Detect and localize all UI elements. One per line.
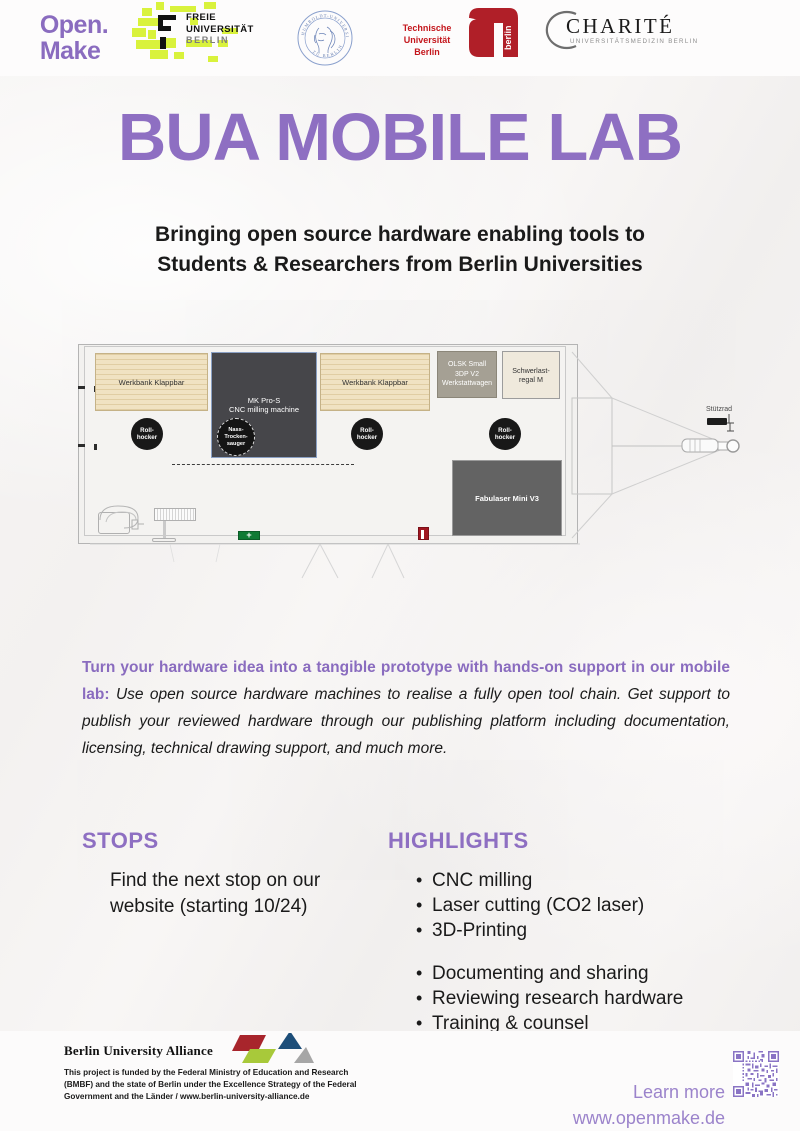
stool-1-label-line1: Roll- <box>137 427 157 435</box>
list-spacer <box>388 943 768 961</box>
tu-line1: Technische <box>390 22 464 34</box>
learn-more-block: Learn more www.openmake.de <box>500 1079 725 1131</box>
heavy-duty-shelf: Schwerlast- regal M <box>502 351 560 399</box>
workbench-right-label: Werkbank Klappbar <box>342 378 408 387</box>
stops-section: STOPS Find the next stop on our website … <box>82 828 382 920</box>
cart-label-line2: 3DP V2 <box>442 370 492 380</box>
page-subtitle-line2: Students & Researchers from Berlin Unive… <box>0 250 800 280</box>
vacuum-label-line1: Nass- <box>224 427 247 434</box>
floor-guide-line <box>172 464 354 465</box>
jockey-wheel-body <box>707 418 727 425</box>
highlights-section: HIGHLIGHTS CNC milling Laser cutting (CO… <box>388 828 768 1036</box>
openmake-logo-line2: Make <box>40 38 108 64</box>
highlights-heading: HIGHLIGHTS <box>388 828 768 854</box>
stops-text: Find the next stop on our website (start… <box>110 868 382 920</box>
learn-more-label: Learn more <box>500 1079 725 1105</box>
tu-berlin-wordmark: Technische Universität Berlin <box>390 22 464 58</box>
list-item: 3D-Printing <box>416 918 768 943</box>
workbench-left-label: Werkbank Klappbar <box>119 378 185 387</box>
tu-berlin-mark-label: berlin <box>503 25 513 50</box>
charite-logo: CHARITÉ UNIVERSITÄTSMEDIZIN BERLIN <box>530 0 700 76</box>
laser-label: Fabulaser Mini V3 <box>475 494 539 503</box>
humboldt-logo: HUMBOLDT-UNIVERSITÄT ZU BERLIN <box>270 0 380 76</box>
shelf-label-line1: Schwerlast- <box>512 366 550 376</box>
openmake-logo-line1: Open. <box>40 12 108 38</box>
laser-cutter: Fabulaser Mini V3 <box>452 460 562 536</box>
workbench-right: Werkbank Klappbar <box>320 353 430 411</box>
page-title: BUA MOBILE LAB <box>0 100 800 176</box>
stool-2-label-line2: hocker <box>357 434 377 442</box>
radiator-unit <box>154 508 196 521</box>
list-item: CNC milling <box>416 868 768 893</box>
trailer-hitch-drawing <box>570 350 740 540</box>
fu-berlin-mark-icon <box>158 15 180 49</box>
website-url[interactable]: www.openmake.de <box>500 1105 725 1131</box>
qr-code-icon[interactable] <box>733 1051 779 1097</box>
list-item: Reviewing research hardware <box>416 986 768 1011</box>
stool-1-label-line2: hocker <box>137 434 157 442</box>
tu-line3: Berlin <box>390 46 464 58</box>
cart-label-line1: OLSK Small <box>442 360 492 370</box>
bua-brand-name: Berlin University Alliance <box>64 1043 213 1059</box>
stool-2-label-line1: Roll- <box>357 427 377 435</box>
list-item: Laser cutting (CO2 laser) <box>416 893 768 918</box>
workbench-left: Werkbank Klappbar <box>95 353 208 411</box>
wall-hinge <box>78 444 85 447</box>
bua-logo-icon <box>232 1033 322 1065</box>
workshop-cart: OLSK Small 3DP V2 Werkstattwagen <box>437 351 497 398</box>
fu-line2: UNIVERSITÄT <box>186 24 254 36</box>
trailer-ground-lines <box>70 538 740 580</box>
stool-2: Roll- hocker <box>351 418 383 450</box>
vacuum-label-line3: sauger <box>224 441 247 448</box>
highlights-list-group-one: CNC milling Laser cutting (CO2 laser) 3D… <box>388 868 768 943</box>
tu-berlin-logo: Technische Universität Berlin berlin <box>380 0 530 76</box>
poster-root: Open. Make <box>0 0 800 1131</box>
openmake-logo: Open. Make <box>0 0 130 76</box>
stops-heading: STOPS <box>82 828 382 854</box>
stool-3: Roll- hocker <box>489 418 521 450</box>
lead-body-text: Use open source hardware machines to rea… <box>82 686 730 757</box>
wall-hinge <box>78 386 85 389</box>
wall-hinge <box>94 444 97 450</box>
jockey-wheel-icon <box>725 412 741 436</box>
floorplan-diagram: Werkbank Klappbar MK Pro-S CNC milling m… <box>70 340 740 580</box>
cnc-label-line2: CNC milling machine <box>229 405 299 414</box>
fu-berlin-wordmark: FREIE UNIVERSITÄT BERLIN <box>186 12 254 47</box>
highlights-list-group-two: Documenting and sharing Reviewing resear… <box>388 961 768 1036</box>
cnc-label-line1: MK Pro-S <box>248 396 281 405</box>
partner-logo-bar: Open. Make <box>0 0 800 76</box>
page-subtitle-line1: Bringing open source hardware enabling t… <box>0 220 800 250</box>
fu-berlin-logo: FREIE UNIVERSITÄT BERLIN <box>130 0 270 76</box>
cart-label-line3: Werkstattwagen <box>442 379 492 389</box>
tu-line2: Universität <box>390 34 464 46</box>
stool-3-label-line1: Roll- <box>495 427 515 435</box>
charite-subline: UNIVERSITÄTSMEDIZIN BERLIN <box>570 38 698 45</box>
list-item: Documenting and sharing <box>416 961 768 986</box>
hose-reel-icon <box>96 500 162 540</box>
vacuum-label-line2: Trocken- <box>224 434 247 441</box>
stool-1: Roll- hocker <box>131 418 163 450</box>
fu-line1: FREIE <box>186 12 254 24</box>
wet-dry-vacuum: Nass- Trocken- sauger <box>217 418 255 456</box>
fu-line3: BERLIN <box>186 35 254 47</box>
lead-paragraph: Turn your hardware idea into a tangible … <box>82 654 730 762</box>
radiator-leg <box>163 521 166 538</box>
charite-wordmark: CHARITÉ <box>566 14 675 39</box>
stool-3-label-line2: hocker <box>495 434 515 442</box>
tu-berlin-mark-icon: berlin <box>466 6 524 60</box>
footer-bar: Berlin University Alliance This project … <box>0 1031 800 1131</box>
page-subtitle: Bringing open source hardware enabling t… <box>0 220 800 280</box>
shelf-label-line2: regal M <box>512 375 550 385</box>
funding-statement: This project is funded by the Federal Mi… <box>64 1067 374 1103</box>
